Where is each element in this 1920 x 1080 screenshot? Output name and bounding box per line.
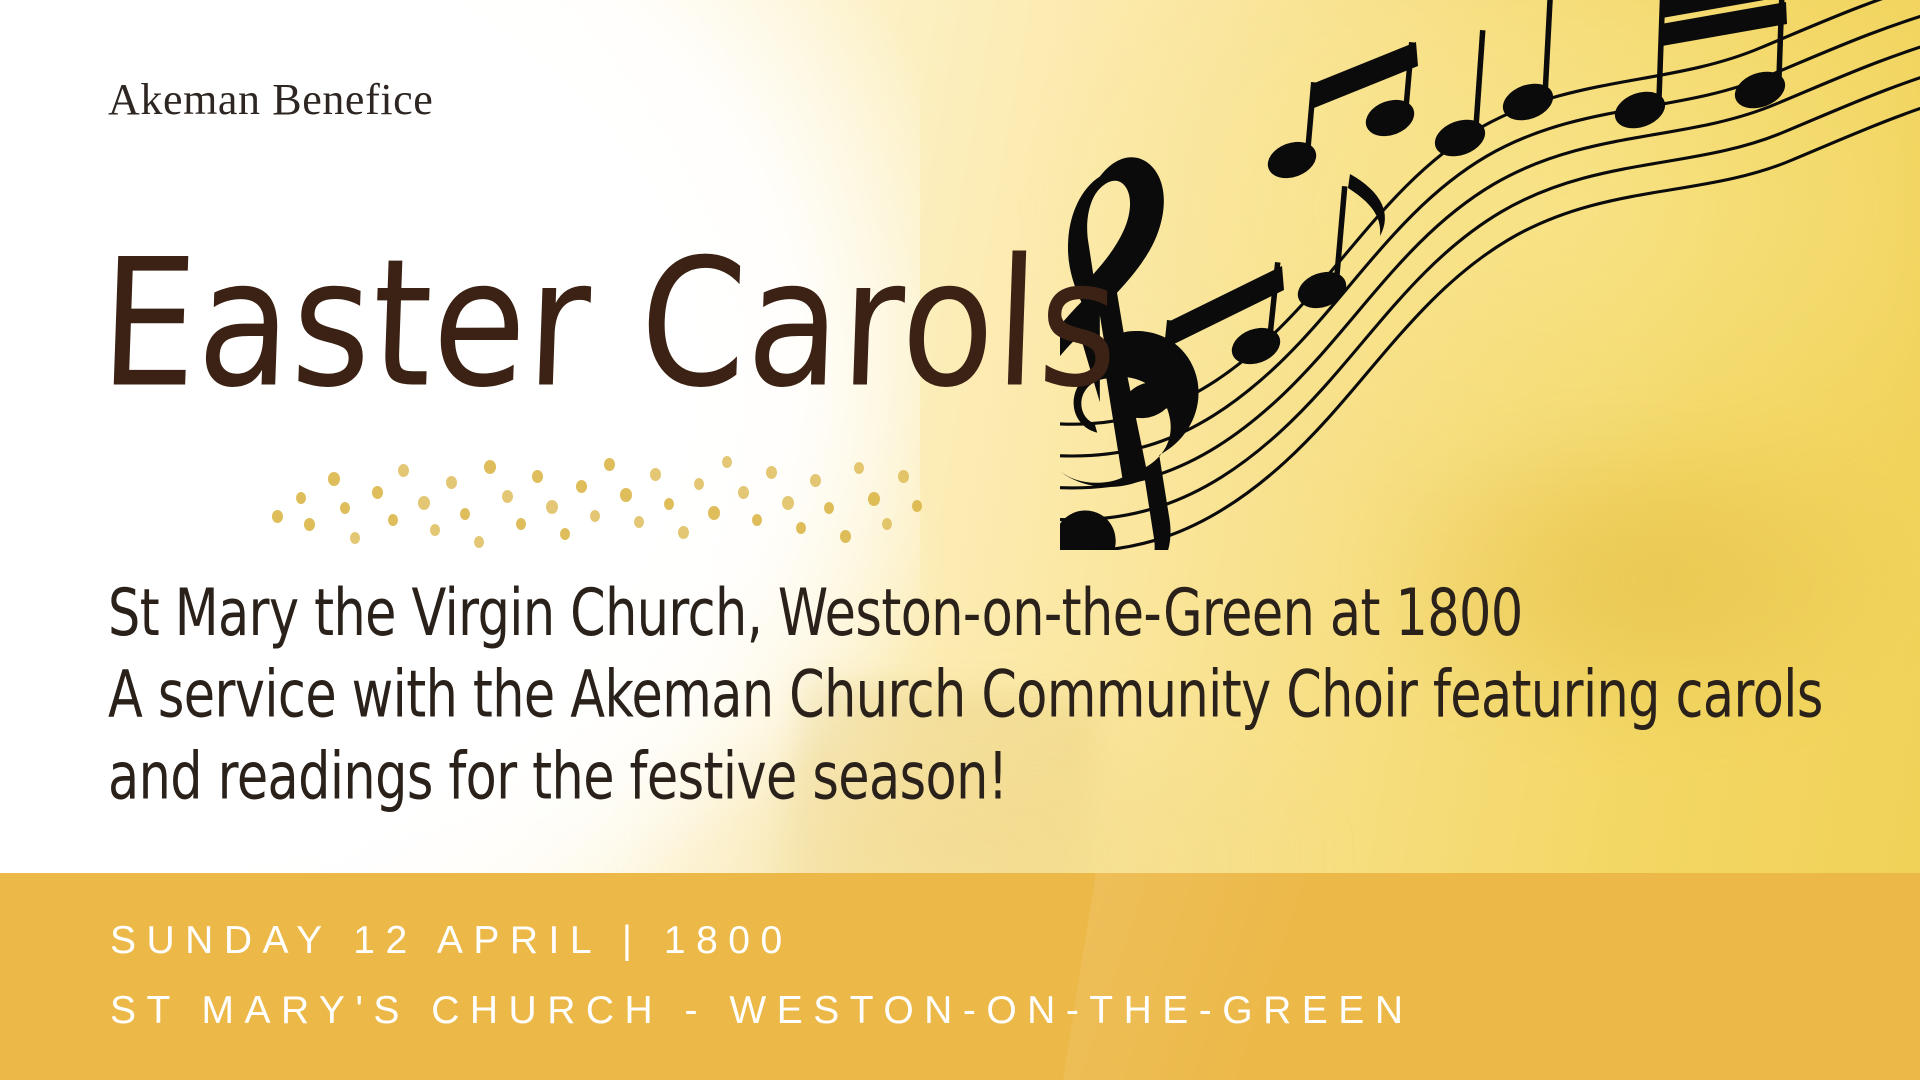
confetti-dot [350,532,360,544]
confetti-dot [398,464,409,477]
confetti-dot [560,528,570,540]
confetti-dot [708,506,720,520]
description-line-3: and readings for the festive season! [108,737,1798,818]
confetti-dot [650,468,661,481]
confetti-dot [898,470,909,483]
confetti-dot [516,518,526,530]
confetti-dot [840,530,851,543]
confetti-dot [722,456,732,468]
confetti-dot [752,514,762,526]
confetti-dot [810,474,821,487]
confetti-dot [868,492,880,506]
banner-venue: ST MARY'S CHURCH - WESTON-ON-THE-GREEN [110,989,1413,1033]
confetti-dot [912,500,922,512]
confetti-dot [418,496,430,510]
description-line-1: St Mary the Virgin Church, Weston-on-the… [108,574,1798,655]
event-details-banner: SUNDAY 12 APRIL | 1800 ST MARY'S CHURCH … [0,873,1920,1080]
gold-confetti-dots [270,452,930,524]
confetti-dot [664,498,674,510]
confetti-dot [502,490,513,503]
poster-canvas: Akeman Benefice Easter Carols St Mary th… [0,0,1920,1080]
banner-date-time: SUNDAY 12 APRIL | 1800 [110,919,793,963]
confetti-dot [272,510,283,523]
confetti-dot [340,502,350,514]
confetti-dot [854,462,864,474]
banner-sheen [1058,873,1362,1080]
confetti-dot [796,522,806,534]
confetti-dot [474,536,484,548]
confetti-dot [546,500,558,514]
confetti-dot [372,486,383,499]
confetti-dot [430,524,440,536]
confetti-dot [824,502,834,514]
confetti-dot [634,516,644,528]
confetti-dot [738,486,749,499]
confetti-dot [694,478,704,490]
confetti-dot [296,492,306,504]
confetti-dot [576,480,587,493]
page-title: Easter Carols [98,236,1122,412]
confetti-dot [304,518,315,531]
confetti-dot [590,510,600,522]
confetti-dot [460,508,470,520]
confetti-dot [484,460,496,474]
event-description: St Mary the Virgin Church, Weston-on-the… [108,574,1798,818]
confetti-dot [604,458,615,471]
confetti-dot [328,472,340,486]
confetti-dot [882,518,892,530]
confetti-dot [620,488,632,502]
confetti-dot [532,470,543,483]
organisation-name: Akeman Benefice [108,74,433,125]
description-line-2: A service with the Akeman Church Communi… [108,655,1798,736]
confetti-dot [388,514,398,526]
confetti-dot [766,466,777,479]
confetti-dot [782,496,794,510]
confetti-dot [678,526,689,539]
confetti-dot [446,476,457,489]
